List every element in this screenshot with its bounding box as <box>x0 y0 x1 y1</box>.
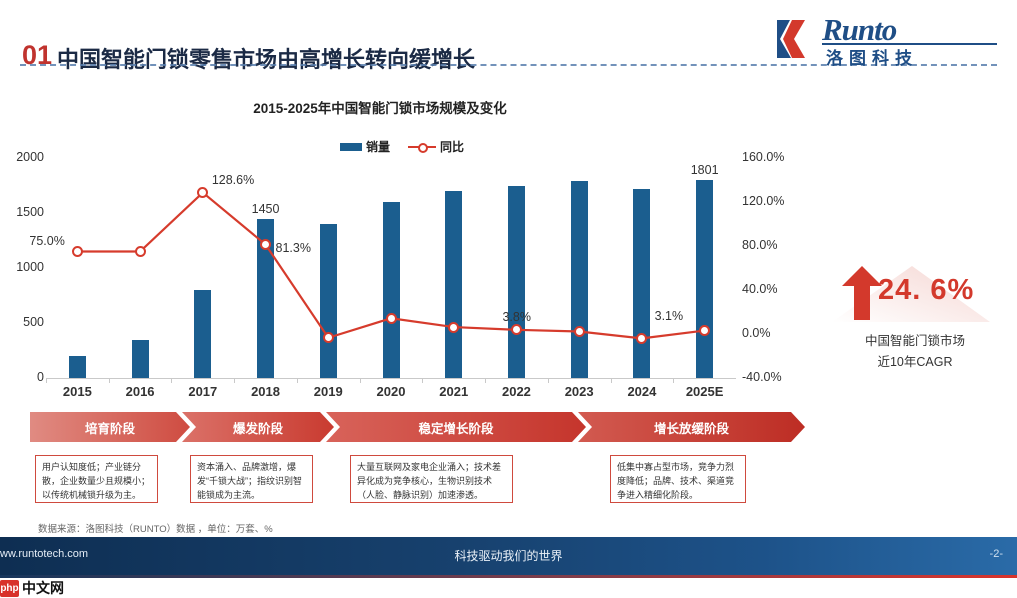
x-axis-tick-label: 2016 <box>109 384 171 399</box>
line-marker-2016 <box>135 246 146 257</box>
y-axis-tick-label: 1500 <box>0 205 44 219</box>
slide: 01 中国智能门锁零售市场由高增长转向缓增长 Runto 洛图科技 2015-2… <box>0 0 1017 575</box>
cagr-value: 24. 6% <box>878 274 974 307</box>
secondary-y-axis-tick-label: 40.0% <box>742 282 798 296</box>
stage-note-1: 用户认知度低；产业链分散，企业数量少且规模小；以传统机械锁升级为主。 <box>35 455 158 503</box>
plot-area: 1450180175.0%128.6%81.3%3.8%3.1% <box>46 158 728 378</box>
y-axis-tick-label: 500 <box>0 315 44 329</box>
stage-label-2: 爆发阶段 <box>233 418 283 437</box>
x-axis-tick-label: 2018 <box>235 384 297 399</box>
stage-arrow-4[interactable]: 增长放缓阶段 <box>578 412 805 442</box>
chart-legend: 销量 同比 <box>340 138 464 155</box>
cagr-caption-line1: 中国智能门锁市场 <box>820 330 1010 349</box>
y-axis-tick-label: 2000 <box>0 150 44 164</box>
slide-footer: ww.runtotech.com 科技驱动我们的世界 -2- <box>0 537 1017 575</box>
secondary-y-axis-tick-label: 120.0% <box>742 194 798 208</box>
stage-note-4: 低集中寡占型市场，竞争力烈度降低；品牌、技术、渠道竞争进入精细化阶段。 <box>610 455 746 503</box>
x-axis-tick-label: 2021 <box>423 384 485 399</box>
yoy-line-series <box>46 158 736 380</box>
runto-logo: Runto 洛图科技 <box>774 14 999 66</box>
x-axis-tick <box>234 378 235 383</box>
stage-arrow-3[interactable]: 稳定增长阶段 <box>326 412 586 442</box>
section-number: 01 <box>22 40 52 71</box>
x-axis-tick-label: 2020 <box>360 384 422 399</box>
line-marker-2020 <box>386 313 397 324</box>
y-axis-tick-label: 0 <box>0 370 44 384</box>
secondary-y-axis-tick-label: -40.0% <box>742 370 798 384</box>
page-title: 中国智能门锁零售市场由高增长转向缓增长 <box>57 42 475 74</box>
stage-label-1: 培育阶段 <box>85 418 135 437</box>
legend-item-line: 同比 <box>408 138 464 155</box>
line-value-label: 128.6% <box>212 173 254 187</box>
page-number: -2- <box>990 548 1003 560</box>
stage-note-3: 大量互联网及家电企业涌入；技术差异化成为竞争核心，生物识别技术（人脸、静脉识别）… <box>350 455 513 503</box>
x-axis-tick <box>422 378 423 383</box>
legend-label-sales: 销量 <box>366 138 390 155</box>
secondary-y-axis-tick-label: 160.0% <box>742 150 798 164</box>
x-axis-tick <box>297 378 298 383</box>
watermark-badge: php <box>0 580 19 597</box>
line-marker-2015 <box>72 246 83 257</box>
line-marker-2021 <box>448 322 459 333</box>
line-marker-2019 <box>323 332 334 343</box>
stage-label-4: 增长放缓阶段 <box>654 418 729 437</box>
secondary-y-axis-tick-label: 80.0% <box>742 238 798 252</box>
x-axis-tick <box>673 378 674 383</box>
watermark-text: 中文网 <box>22 578 64 598</box>
x-axis-tick-label: 2022 <box>485 384 547 399</box>
line-value-label: 75.0% <box>29 234 64 248</box>
x-axis-tick <box>485 378 486 383</box>
stage-note-text-3: 大量互联网及家电企业涌入；技术差异化成为竞争核心，生物识别技术（人脸、静脉识别）… <box>357 462 501 500</box>
line-value-label: 3.8% <box>502 310 531 324</box>
stage-arrow-bar: 培育阶段 爆发阶段 稳定增长阶段 增长放缓阶段 <box>30 412 805 442</box>
y-axis-tick-label: 1000 <box>0 260 44 274</box>
x-axis-tick <box>109 378 110 383</box>
stage-note-text-2: 资本涌入、品牌激增，爆发“千锁大战”；指纹识别智能锁成为主流。 <box>197 462 302 500</box>
x-axis-tick <box>548 378 549 383</box>
x-axis-tick <box>46 378 47 383</box>
stage-arrow-1[interactable]: 培育阶段 <box>30 412 190 442</box>
logo-chinese-name: 洛图科技 <box>826 44 918 69</box>
stage-label-3: 稳定增长阶段 <box>418 418 493 437</box>
data-source-note: 数据来源：洛图科技（RUNTO）数据 ，单位：万套、% <box>38 521 273 535</box>
line-value-label: 81.3% <box>276 241 311 255</box>
watermark: php 中文网 <box>0 578 64 598</box>
legend-label-yoy: 同比 <box>440 138 464 155</box>
x-axis-tick <box>171 378 172 383</box>
chart: 销量 同比 1450180175.0%128.6%81.3%3.8%3.1% 0… <box>0 120 800 400</box>
secondary-y-axis-tick-label: 0.0% <box>742 326 798 340</box>
x-axis-tick-label: 2015 <box>46 384 108 399</box>
footer-slogan: 科技驱动我们的世界 <box>0 547 1017 564</box>
stage-note-text-4: 低集中寡占型市场，竞争力烈度降低；品牌、技术、渠道竞争进入精细化阶段。 <box>617 462 734 500</box>
x-axis-tick <box>611 378 612 383</box>
logo-mark-icon <box>774 16 820 62</box>
line-value-label: 3.1% <box>655 309 684 323</box>
x-axis-tick-label: 2019 <box>297 384 359 399</box>
stage-note-2: 资本涌入、品牌激增，爆发“千锁大战”；指纹识别智能锁成为主流。 <box>190 455 313 503</box>
x-axis-tick-label: 2025E <box>674 384 736 399</box>
x-axis-tick-label: 2023 <box>548 384 610 399</box>
x-axis-tick <box>360 378 361 383</box>
chart-title: 2015-2025年中国智能门锁市场规模及变化 <box>0 97 760 117</box>
x-axis-tick-label: 2017 <box>172 384 234 399</box>
line-marker-2023 <box>574 326 585 337</box>
legend-bar-swatch <box>340 143 362 151</box>
stage-arrow-2[interactable]: 爆发阶段 <box>182 412 334 442</box>
footer-accent-bar <box>0 575 1017 578</box>
x-axis-tick-label: 2024 <box>611 384 673 399</box>
cagr-callout: 24. 6% 中国智能门锁市场 近10年CAGR <box>820 262 1010 377</box>
cagr-caption-line2: 近10年CAGR <box>820 351 1010 370</box>
legend-line-swatch <box>408 142 436 152</box>
stage-note-text-1: 用户认知度低；产业链分散，企业数量少且规模小；以传统机械锁升级为主。 <box>42 462 150 500</box>
legend-item-bar: 销量 <box>340 138 390 155</box>
